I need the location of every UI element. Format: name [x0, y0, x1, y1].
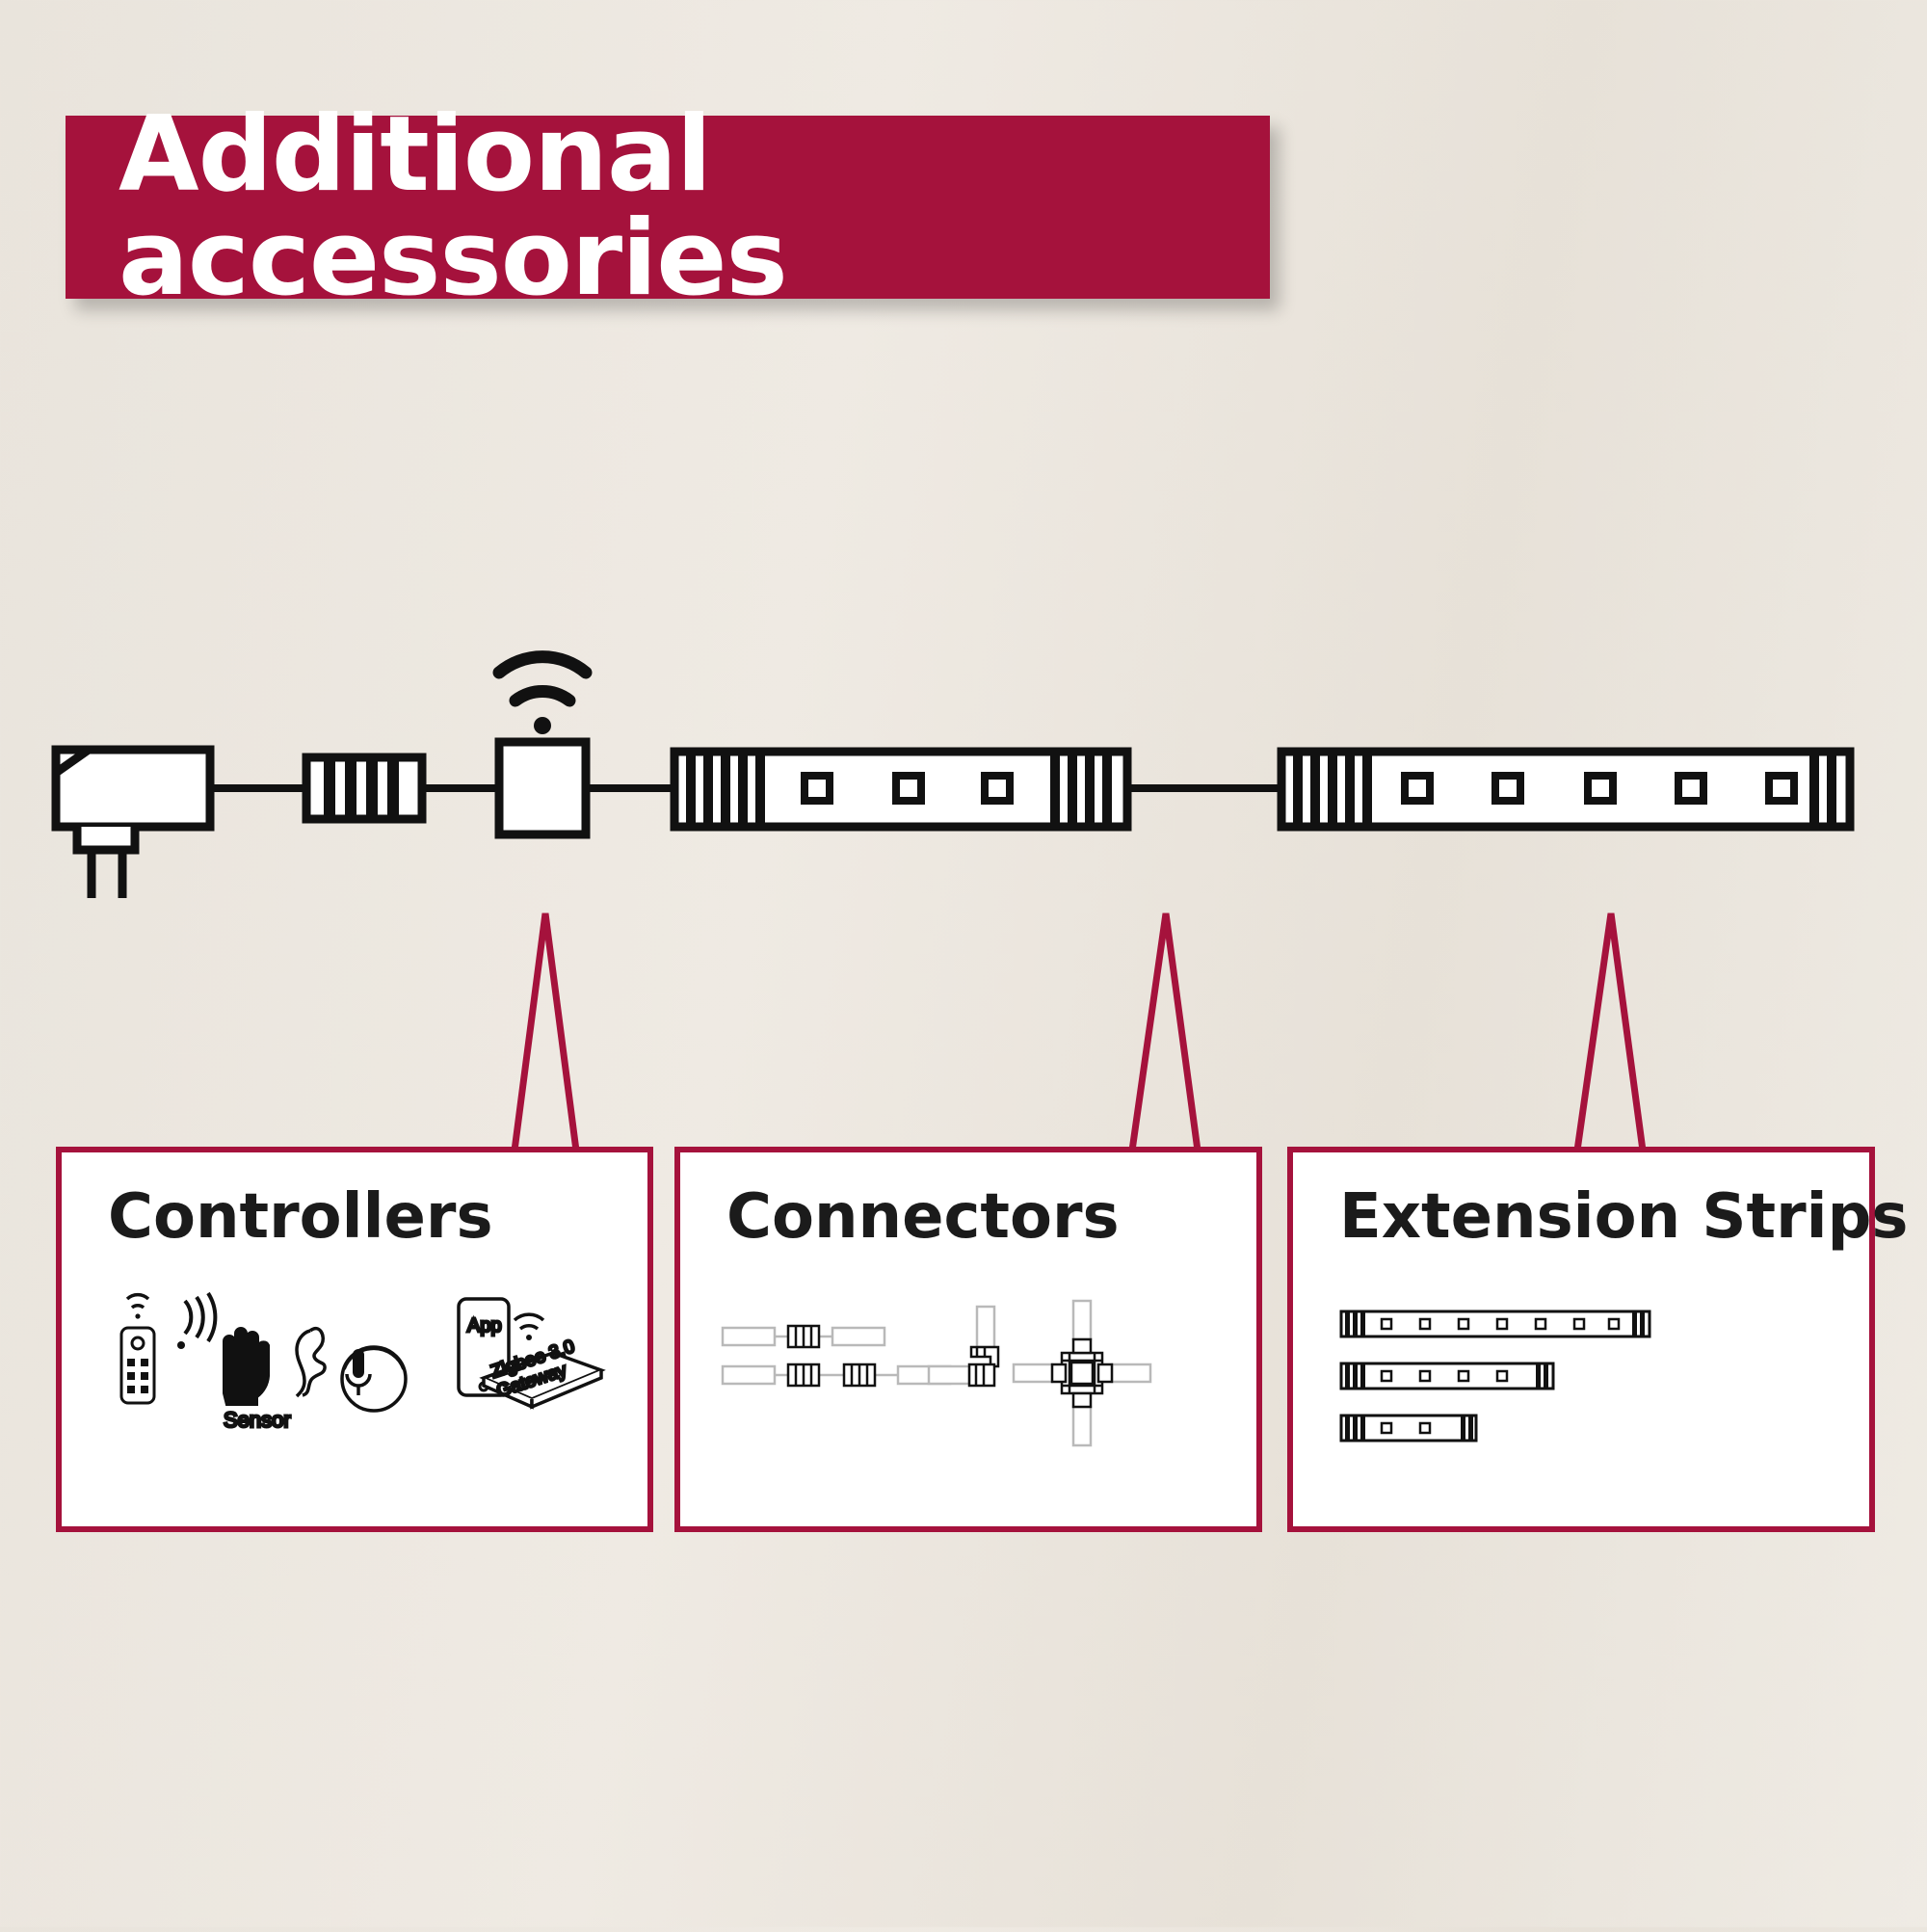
extension-strip-short-icon — [1341, 1416, 1476, 1441]
corner-connector-icon — [929, 1307, 998, 1386]
pointer-connectors — [1132, 913, 1198, 1151]
extension-strip-medium-icon — [1341, 1363, 1553, 1389]
phone-wifi-icon — [515, 1314, 543, 1340]
panel-extension-title: Extension Strips — [1339, 1181, 1909, 1253]
cross-connector-icon — [1014, 1301, 1150, 1445]
pointer-controllers — [515, 913, 576, 1151]
app-label: App — [467, 1315, 502, 1337]
page-title: Additional accessories — [66, 103, 1270, 311]
panel-controllers-title: Controllers — [108, 1181, 493, 1253]
straight-connector-icon — [723, 1328, 950, 1384]
wifi-waves-icon — [499, 657, 586, 734]
title-banner: Additional accessories — [66, 116, 1270, 299]
led-system-chain — [0, 626, 1927, 915]
led-strip-segment-2 — [1281, 752, 1850, 827]
remote-control-icon — [121, 1295, 154, 1403]
panel-controllers[interactable]: Controllers — [56, 1147, 653, 1532]
panel-connectors[interactable]: Connectors — [674, 1147, 1262, 1532]
wifi-controller-box — [499, 742, 586, 834]
sensor-label: Sensor — [224, 1408, 291, 1432]
panel-connectors-icons — [709, 1297, 1249, 1490]
panel-extension-strips[interactable]: Extension Strips — [1287, 1147, 1875, 1532]
extension-strip-long-icon — [1341, 1311, 1650, 1337]
panel-extension-icons — [1322, 1292, 1861, 1495]
panel-connectors-title: Connectors — [726, 1181, 1120, 1253]
pointer-extension — [1577, 913, 1643, 1151]
diagram-stage: Additional accessories — [0, 0, 1927, 1927]
panel-controllers-icons: Sensor — [100, 1278, 640, 1519]
voice-assistant-icon — [297, 1329, 406, 1411]
power-supply-plug — [56, 750, 210, 898]
led-strip-segment-1 — [674, 752, 1127, 827]
motion-sensor-hand-icon — [177, 1293, 269, 1405]
cable-connector-1 — [306, 757, 422, 819]
